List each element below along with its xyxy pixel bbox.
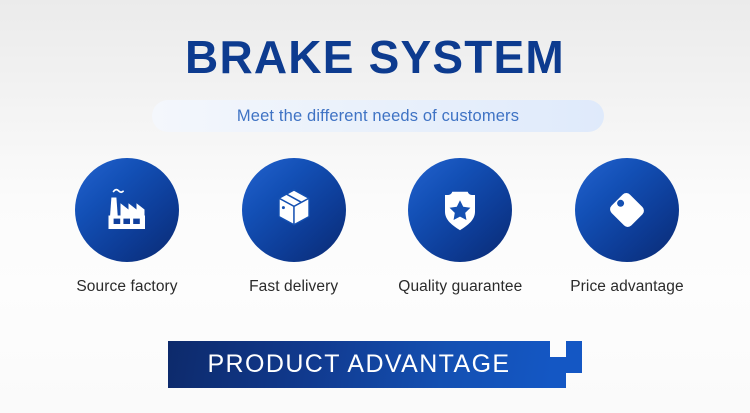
subtitle-text: Meet the different needs of customers [237, 107, 519, 126]
checker-pattern-decoration [550, 341, 582, 388]
promo-banner: BRAKE SYSTEM Meet the different needs of… [0, 0, 750, 413]
feature-item-source-factory[interactable]: Source factory [44, 158, 210, 296]
icon-circle [75, 158, 179, 262]
feature-list: Source factory [44, 158, 710, 296]
bar-label: PRODUCT ADVANTAGE [207, 350, 510, 379]
feature-label: Quality guarantee [398, 278, 522, 296]
bar-body: PRODUCT ADVANTAGE [168, 341, 550, 388]
feature-item-fast-delivery[interactable]: Fast delivery [211, 158, 377, 296]
subtitle-pill: Meet the different needs of customers [152, 100, 604, 132]
checker-square [550, 357, 566, 373]
checker-square [550, 373, 566, 388]
feature-label: Source factory [76, 278, 177, 296]
feature-label: Fast delivery [249, 278, 338, 296]
icon-circle [408, 158, 512, 262]
feature-label: Price advantage [570, 278, 684, 296]
icon-circle [575, 158, 679, 262]
shield-star-icon [433, 183, 487, 237]
feature-item-price-advantage[interactable]: Price advantage [544, 158, 710, 296]
price-tag-icon [600, 183, 654, 237]
feature-item-quality-guarantee[interactable]: Quality guarantee [377, 158, 543, 296]
factory-icon [100, 183, 154, 237]
product-advantage-bar[interactable]: PRODUCT ADVANTAGE [168, 341, 582, 388]
checker-square [566, 341, 582, 357]
box-icon [267, 183, 321, 237]
icon-circle [242, 158, 346, 262]
checker-square [566, 357, 582, 373]
page-title: BRAKE SYSTEM [0, 33, 750, 81]
